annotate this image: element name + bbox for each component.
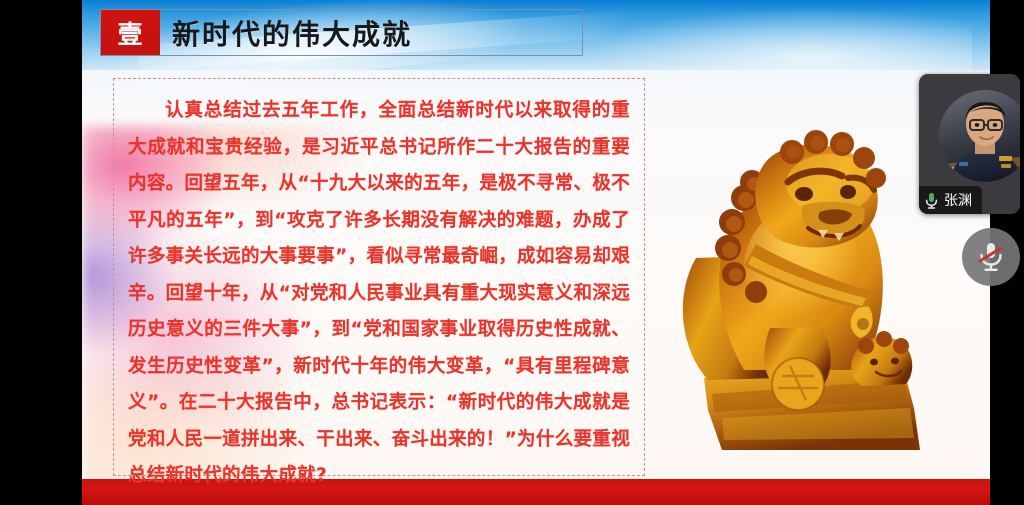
screen-capture: 壹 新时代的伟大成就 <box>0 0 1024 505</box>
golden-guardian-lion-statue <box>652 78 952 468</box>
participant-video-tile[interactable]: 张渊 <box>919 74 1020 214</box>
mute-microphone-button[interactable] <box>962 228 1020 286</box>
participant-avatar <box>939 90 1020 182</box>
microphone-muted-icon <box>976 240 1006 274</box>
participant-name-pill: 张渊 <box>919 186 982 214</box>
microphone-icon <box>925 192 938 209</box>
letterbox-left <box>0 0 82 505</box>
slide-body-text: 认真总结过去五年工作，全面总结新时代以来取得的重大成就和宝贵经验，是习近平总书记… <box>128 93 630 495</box>
page-title: 新时代的伟大成就 <box>172 10 412 55</box>
participant-name: 张渊 <box>944 190 972 210</box>
presentation-slide: 壹 新时代的伟大成就 <box>82 0 990 505</box>
section-number-badge: 壹 <box>101 10 160 55</box>
slide-body-textbox: 认真总结过去五年工作，全面总结新时代以来取得的重大成就和宝贵经验，是习近平总书记… <box>113 78 645 476</box>
